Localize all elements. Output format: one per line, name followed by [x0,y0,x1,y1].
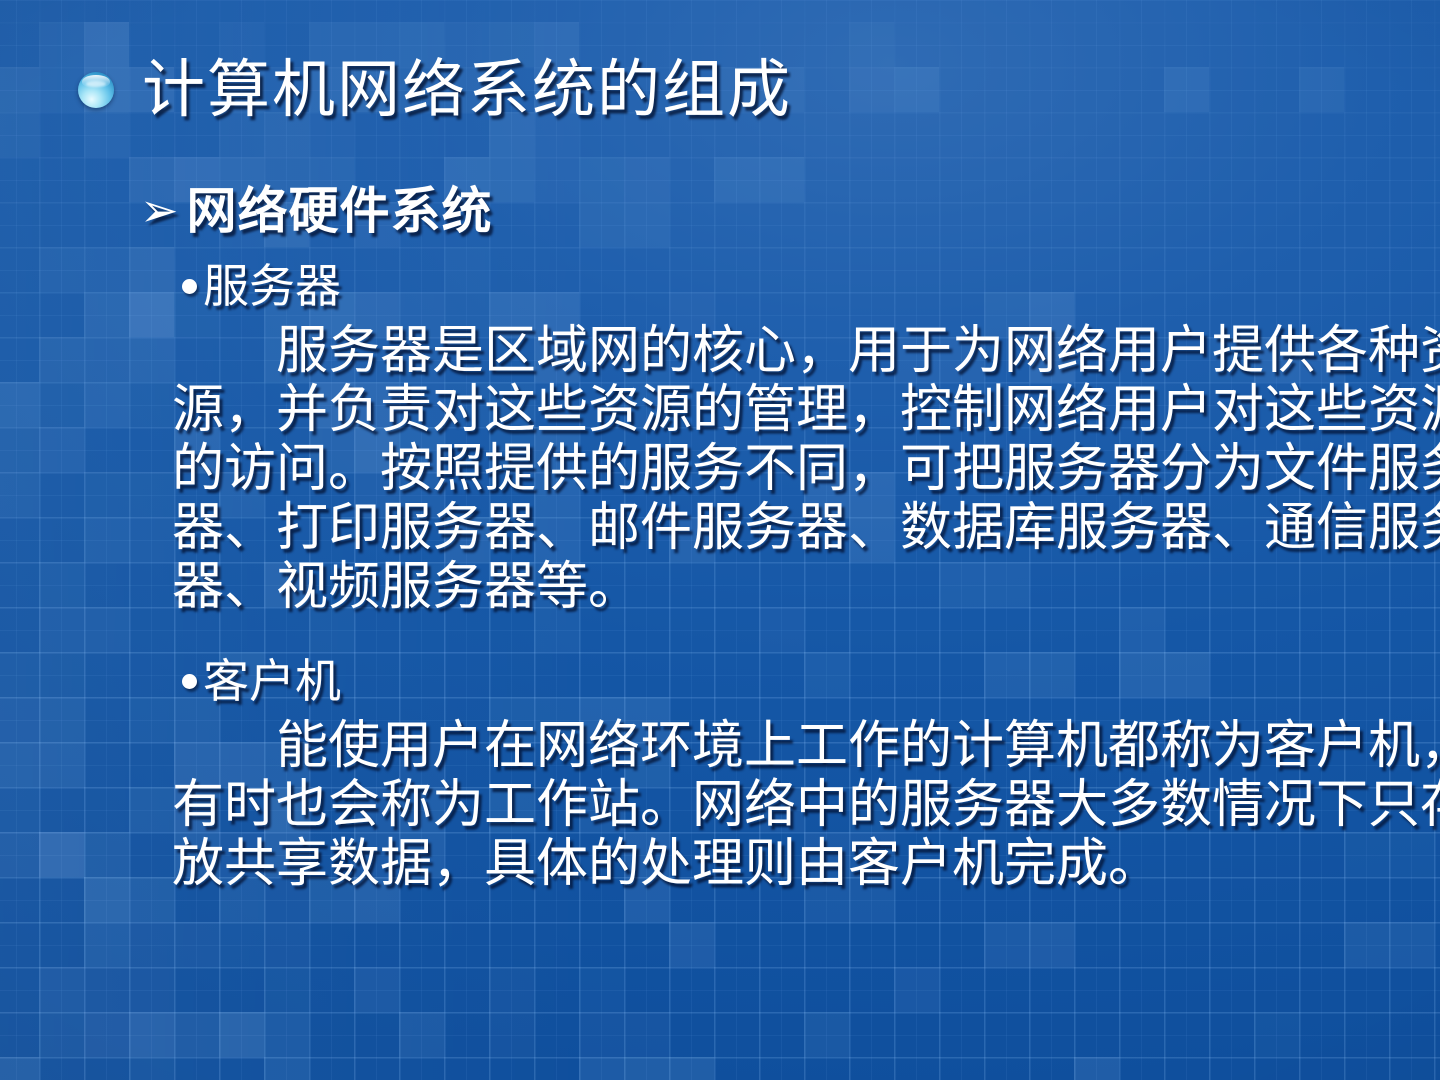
paragraph-line: 有时也会称为工作站。网络中的服务器大多数情况下只存 [172,776,1420,835]
body-paragraph-server: 服务器是区域网的核心，用于为网络用户提供各种资 源，并负责对这些资源的管理，控制… [172,322,1420,617]
section-heading-label: 网络硬件系统 [187,186,493,236]
list-item-server-heading: 服务器 [182,262,341,310]
paragraph-line: 器、打印服务器、邮件服务器、数据库服务器、通信服务 [172,499,1420,558]
paragraph-line: 器、视频服务器等。 [172,558,1420,617]
paragraph-line: 源，并负责对这些资源的管理，控制网络用户对这些资源 [172,381,1420,440]
list-item-label: 服务器 [203,262,341,310]
slide-title-row: 计算机网络系统的组成 [78,58,792,121]
paragraph-line: 放共享数据，具体的处理则由客户机完成。 [172,835,1420,894]
blue-sphere-bullet-icon [78,72,114,108]
list-item-label: 客户机 [203,657,341,705]
page-title: 计算机网络系统的组成 [142,58,792,121]
section-heading-network-hardware: ➢ 网络硬件系统 [140,186,493,236]
paragraph-line: 的访问。按照提供的服务不同，可把服务器分为文件服务 [172,440,1420,499]
round-dot-bullet-icon [182,674,197,689]
list-item-client-heading: 客户机 [182,657,341,705]
body-paragraph-client: 能使用户在网络环境上工作的计算机都称为客户机， 有时也会称为工作站。网络中的服务… [172,717,1420,894]
round-dot-bullet-icon [182,279,197,294]
arrow-bullet-icon: ➢ [140,187,179,233]
paragraph-line: 能使用户在网络环境上工作的计算机都称为客户机， [172,717,1420,776]
paragraph-line: 服务器是区域网的核心，用于为网络用户提供各种资 [172,322,1420,381]
slide-content: 计算机网络系统的组成 ➢ 网络硬件系统 服务器 服务器是区域网的核心，用于为网络… [0,0,1440,1080]
presentation-slide: 计算机网络系统的组成 ➢ 网络硬件系统 服务器 服务器是区域网的核心，用于为网络… [0,0,1440,1080]
